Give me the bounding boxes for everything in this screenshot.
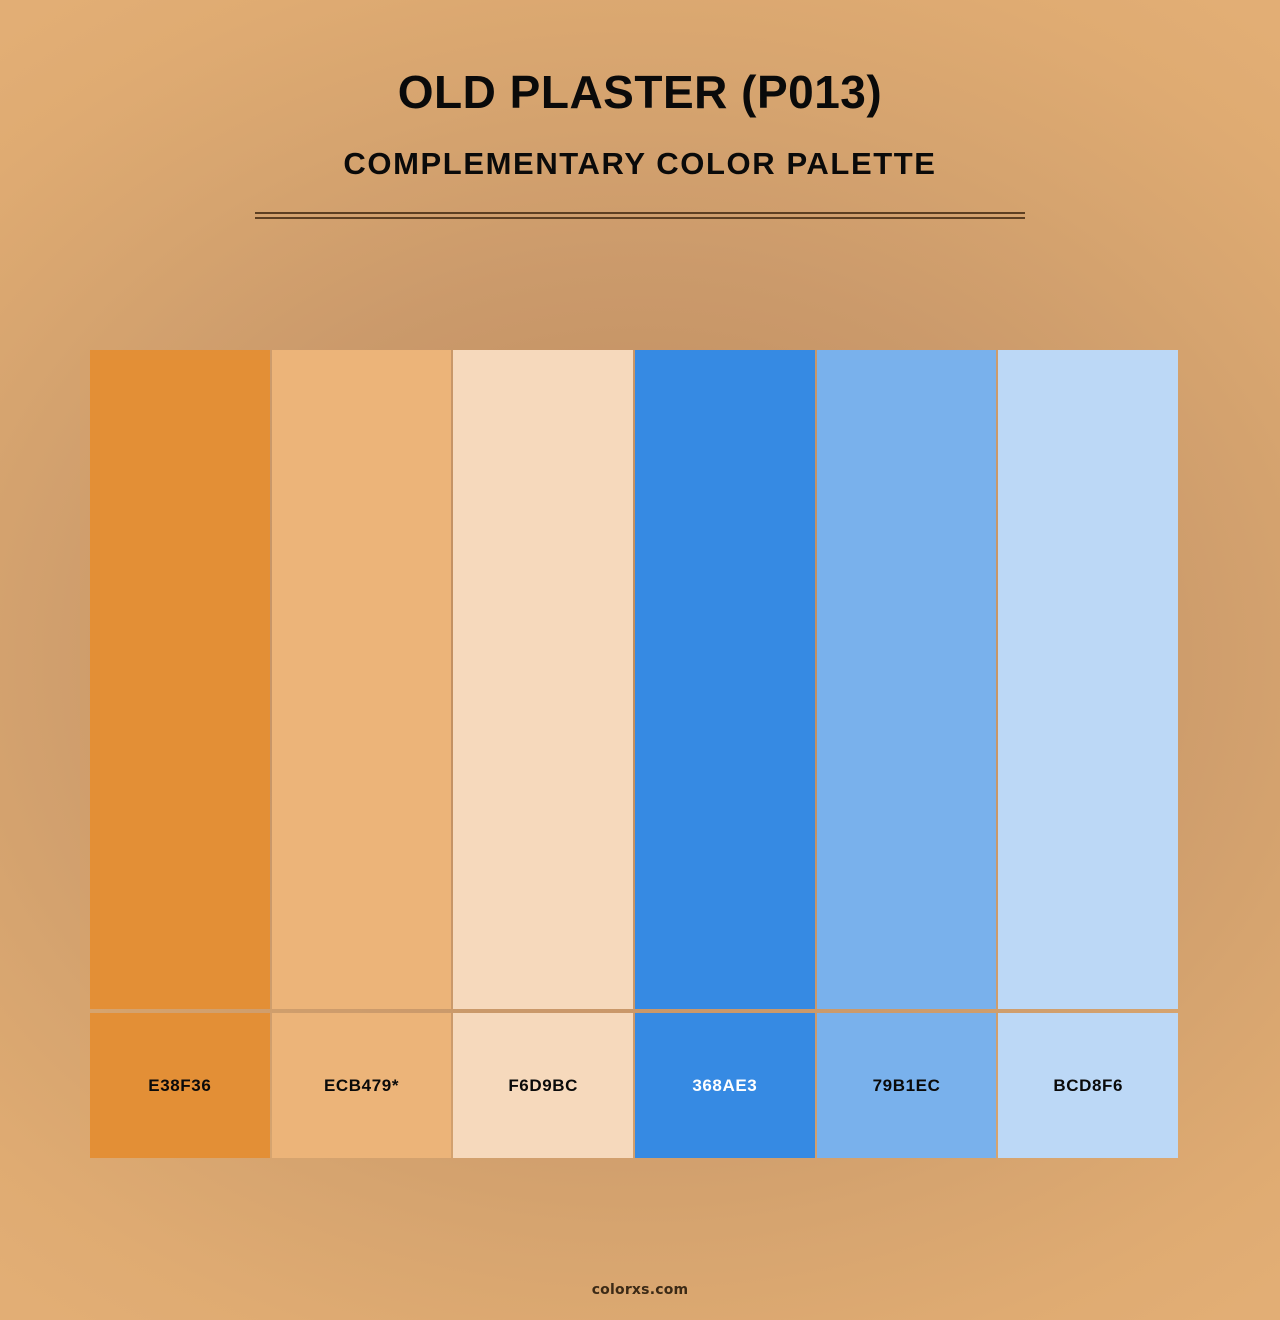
swatch-column[interactable]: ECB479* [272, 350, 452, 1158]
swatch-label-block[interactable]: BCD8F6 [998, 1013, 1178, 1158]
swatch-color-block[interactable] [90, 350, 270, 1009]
swatch-column[interactable]: 79B1EC [817, 350, 997, 1158]
swatch-hex-label: 368AE3 [692, 1076, 757, 1096]
swatch-column[interactable]: BCD8F6 [998, 350, 1178, 1158]
swatch-color-block[interactable] [272, 350, 452, 1009]
swatch-color-block[interactable] [998, 350, 1178, 1009]
page-title: OLD PLASTER (P013) [0, 68, 1280, 116]
page-header: OLD PLASTER (P013) COMPLEMENTARY COLOR P… [0, 0, 1280, 219]
color-palette: E38F36ECB479*F6D9BC368AE379B1ECBCD8F6 [90, 350, 1178, 1158]
swatch-color-block[interactable] [635, 350, 815, 1009]
page-subtitle: COMPLEMENTARY COLOR PALETTE [0, 146, 1280, 182]
swatch-label-block[interactable]: 79B1EC [817, 1013, 997, 1158]
swatch-label-block[interactable]: 368AE3 [635, 1013, 815, 1158]
swatch-label-block[interactable]: E38F36 [90, 1013, 270, 1158]
palette-page: OLD PLASTER (P013) COMPLEMENTARY COLOR P… [0, 0, 1280, 1320]
swatch-hex-label: ECB479* [324, 1076, 399, 1096]
swatch-column[interactable]: F6D9BC [453, 350, 633, 1158]
swatch-color-block[interactable] [453, 350, 633, 1009]
swatch-hex-label: F6D9BC [508, 1076, 578, 1096]
divider-line-top [255, 212, 1025, 214]
swatch-hex-label: E38F36 [148, 1076, 211, 1096]
swatch-hex-label: 79B1EC [873, 1076, 941, 1096]
header-divider [255, 212, 1025, 219]
swatch-hex-label: BCD8F6 [1053, 1076, 1123, 1096]
page-footer: colorxs.com [0, 1279, 1280, 1298]
swatch-label-block[interactable]: F6D9BC [453, 1013, 633, 1158]
site-credit: colorxs.com [592, 1282, 689, 1298]
swatch-column[interactable]: 368AE3 [635, 350, 815, 1158]
swatch-label-block[interactable]: ECB479* [272, 1013, 452, 1158]
swatch-column[interactable]: E38F36 [90, 350, 270, 1158]
divider-line-bottom [255, 217, 1025, 219]
swatch-color-block[interactable] [817, 350, 997, 1009]
